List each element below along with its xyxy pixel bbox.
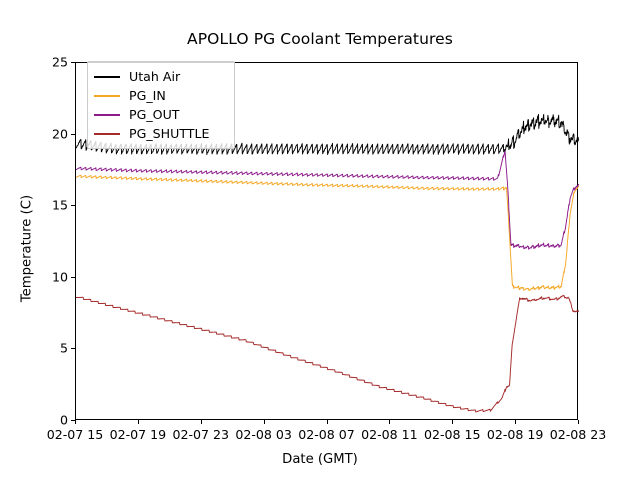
x-axis-label: Date (GMT) <box>0 452 640 467</box>
chart-legend: Utah Air PG_IN PG_OUT PG_SHUTTLE <box>87 61 235 149</box>
x-tick-label: 02-08 11 <box>361 427 418 442</box>
legend-item-pg-in: PG_IN <box>94 86 228 105</box>
y-tick-label: 20 <box>28 126 68 141</box>
y-axis-label: Temperature (C) <box>20 159 35 339</box>
x-tick-label: 02-07 23 <box>172 427 229 442</box>
legend-label-utah-air: Utah Air <box>129 67 180 86</box>
x-tick-label: 02-07 19 <box>110 427 167 442</box>
legend-item-utah-air: Utah Air <box>94 67 228 86</box>
chart-figure: APOLLO PG Coolant Temperatures 051015202… <box>0 0 640 480</box>
x-tick-label: 02-08 19 <box>487 427 544 442</box>
y-tick-mark <box>71 348 75 349</box>
y-tick-mark <box>71 62 75 63</box>
y-tick-label: 25 <box>28 55 68 70</box>
x-tick-label: 02-08 07 <box>298 427 355 442</box>
y-tick-mark <box>71 205 75 206</box>
chart-title: APOLLO PG Coolant Temperatures <box>0 30 640 48</box>
x-tick-mark <box>201 420 202 424</box>
x-tick-mark <box>389 420 390 424</box>
x-tick-mark <box>327 420 328 424</box>
legend-item-pg-shuttle: PG_SHUTTLE <box>94 124 228 143</box>
x-tick-label: 02-07 15 <box>47 427 104 442</box>
x-tick-mark <box>75 420 76 424</box>
series-line-pg-shuttle <box>76 295 579 411</box>
x-tick-mark <box>515 420 516 424</box>
legend-swatch-pg-out <box>94 114 120 116</box>
legend-item-pg-out: PG_OUT <box>94 105 228 124</box>
x-tick-mark <box>138 420 139 424</box>
x-tick-mark <box>452 420 453 424</box>
legend-label-pg-out: PG_OUT <box>129 105 179 124</box>
y-tick-mark <box>71 277 75 278</box>
series-line-pg-out <box>76 151 579 249</box>
y-tick-label: 0 <box>28 413 68 428</box>
series-line-pg-in <box>76 175 579 290</box>
x-tick-mark <box>264 420 265 424</box>
x-tick-label: 02-08 03 <box>235 427 292 442</box>
legend-swatch-pg-in <box>94 95 120 97</box>
legend-swatch-pg-shuttle <box>94 133 120 135</box>
x-tick-label: 02-08 23 <box>550 427 607 442</box>
legend-label-pg-in: PG_IN <box>129 86 166 105</box>
x-tick-label: 02-08 15 <box>424 427 481 442</box>
y-tick-label: 5 <box>28 341 68 356</box>
y-tick-mark <box>71 134 75 135</box>
legend-swatch-utah-air <box>94 76 120 78</box>
legend-label-pg-shuttle: PG_SHUTTLE <box>129 124 209 143</box>
x-tick-mark <box>578 420 579 424</box>
